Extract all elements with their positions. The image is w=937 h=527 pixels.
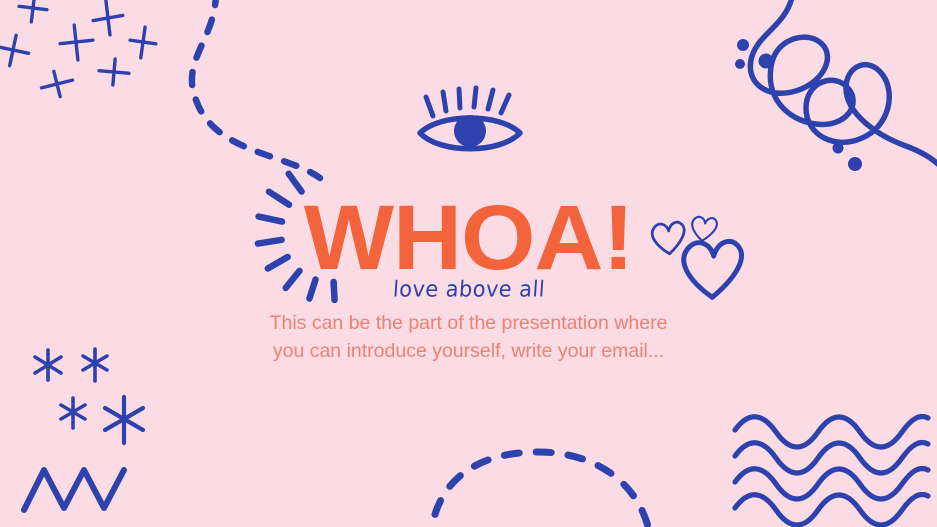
body-paragraph: This can be the part of the presentation…: [0, 310, 937, 365]
subtitle-script: love above all: [0, 279, 937, 300]
page-title: WHOA!: [0, 192, 937, 284]
body-line-2: you can introduce yourself, write your e…: [0, 338, 937, 366]
subtitle-text: love above all: [392, 278, 545, 300]
body-line-1: This can be the part of the presentation…: [0, 310, 937, 338]
presentation-slide: WHOA! love above all This can be the par…: [0, 0, 937, 527]
slide-content: WHOA! love above all This can be the par…: [0, 0, 937, 527]
